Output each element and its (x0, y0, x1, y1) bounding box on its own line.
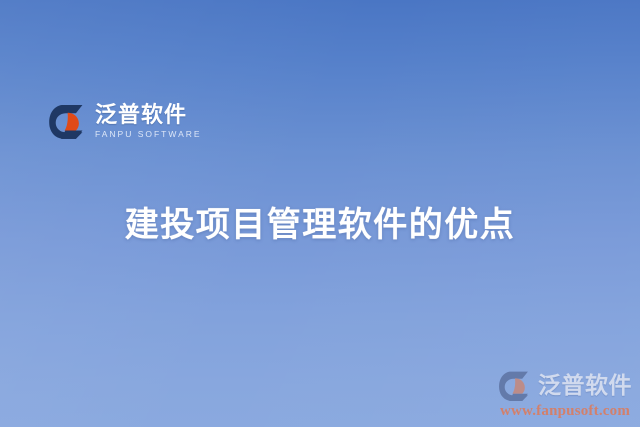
brand-name-cn: 泛普软件 (95, 104, 202, 126)
brand-lockup: 泛普软件 FANPU SOFTWARE (48, 102, 202, 140)
brand-wordmark: 泛普软件 FANPU SOFTWARE (95, 104, 202, 139)
promo-banner: 泛普软件 FANPU SOFTWARE 建投项目管理软件的优点 泛普软件 www… (0, 0, 640, 427)
brand-name-en: FANPU SOFTWARE (95, 130, 202, 139)
watermark: 泛普软件 www.fanpusoft.com (498, 369, 632, 419)
fanpu-logo-icon (48, 102, 86, 140)
page-title: 建投项目管理软件的优点 (0, 197, 640, 246)
watermark-logo-row: 泛普软件 (498, 369, 632, 402)
watermark-url: www.fanpusoft.com (500, 404, 630, 419)
watermark-name-cn: 泛普软件 (538, 374, 632, 397)
fanpu-logo-watermark-icon (498, 369, 531, 402)
